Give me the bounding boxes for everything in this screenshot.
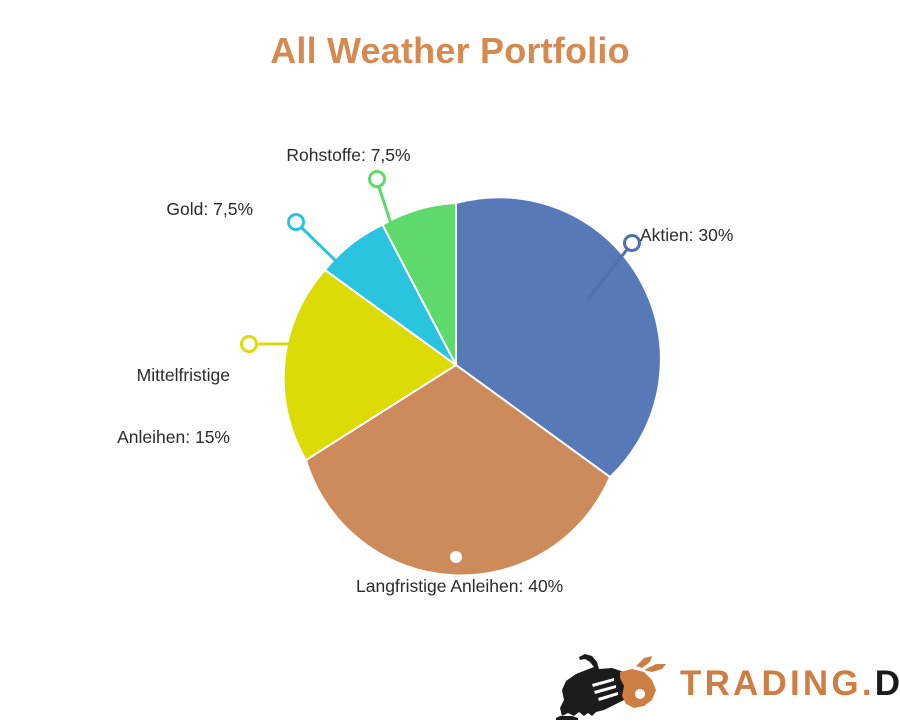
logo-text-de: DE — [875, 664, 900, 703]
pie-label-mittelfristige-line1: Mittelfristige — [48, 365, 230, 386]
logo-wordmark: TRADING.DE — [680, 664, 900, 704]
bull-icon — [552, 650, 677, 722]
leader-line-gold — [289, 215, 338, 263]
pie-label-aktien: Aktien: 30% — [640, 225, 733, 246]
leader-line-rohstoffe — [370, 172, 393, 228]
trading-de-logo[interactable]: TRADING.DE — [552, 650, 882, 722]
pie-label-langfristige-anleihen: Langfristige Anleihen: 40% — [356, 576, 563, 597]
logo-text-trading: TRADING. — [680, 664, 875, 703]
pie-label-gold: Gold: 7,5% — [60, 199, 253, 220]
chart-page: All Weather Portfolio — [0, 0, 900, 725]
pie-label-mittelfristige-anleihen: Mittelfristige Anleihen: 15% — [48, 324, 230, 489]
pie-label-rohstoffe: Rohstoffe: 7,5% — [252, 145, 445, 166]
pie-chart: Aktien: 30% Langfristige Anleihen: 40% M… — [0, 0, 900, 660]
pie-label-mittelfristige-line2: Anleihen: 15% — [48, 427, 230, 448]
